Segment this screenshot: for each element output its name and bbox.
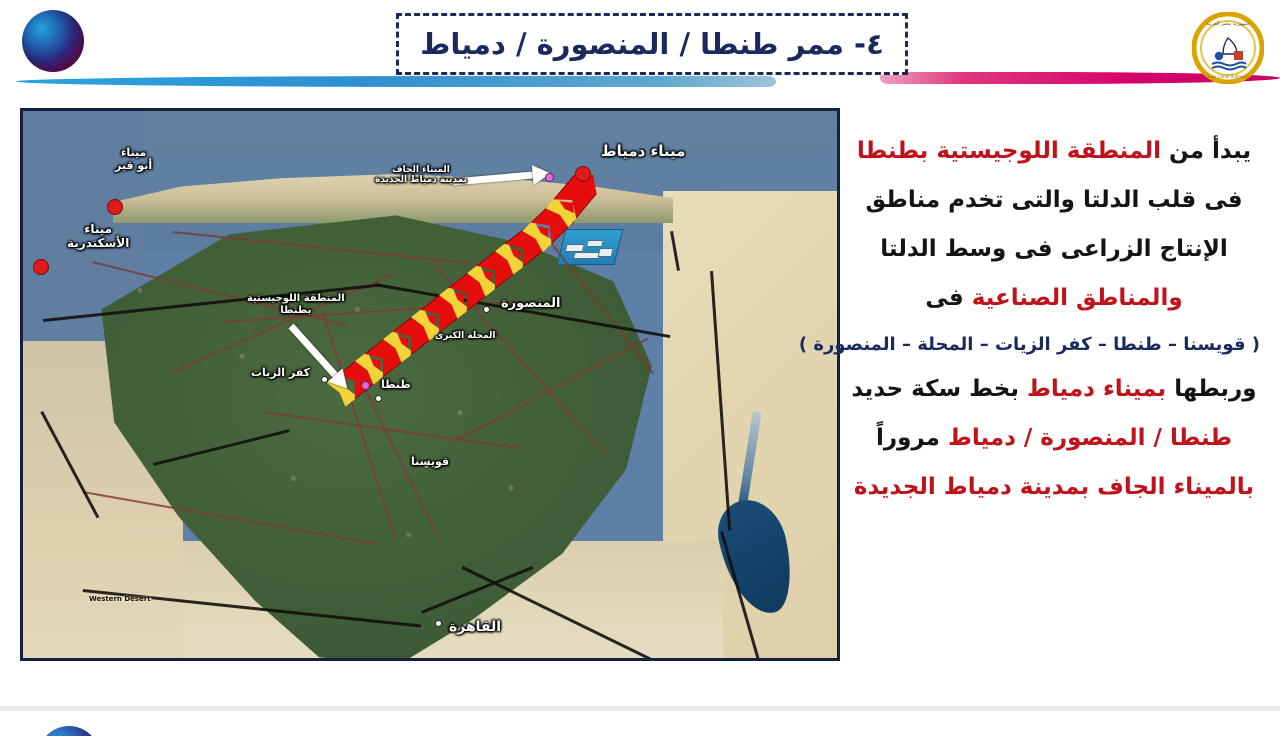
damietta-port-photo: [557, 229, 624, 265]
map-label-abu-qir-port: ميناء أبو قير: [115, 147, 152, 172]
map-label-mansoura: المنصورة: [501, 297, 560, 312]
desc-line-7: طنطا / المنصورة / دمياط مروراً: [848, 427, 1260, 450]
desc-line-4: والمناطق الصناعية فى: [848, 287, 1260, 310]
desc-line-2: فى قلب الدلتا والتى تخدم مناطق: [848, 189, 1260, 212]
map-label-western-desert: Western Desert: [89, 595, 151, 603]
map-label-damietta-port: ميناء دمياط: [601, 143, 685, 160]
cairo-node[interactable]: [435, 620, 442, 627]
desc-line-1: يبدأ من المنطقة اللوجيستية بطنطا: [848, 140, 1260, 163]
map-label-alexandria-port: ميناء الأسكندرية: [67, 223, 129, 251]
desc-line-3: الإنتاج الزراعى فى وسط الدلتا: [848, 238, 1260, 261]
map-label-kafr-el-zayat: كفر الزيات: [251, 367, 310, 380]
map-label-quesna: قويسنا: [411, 456, 449, 469]
alexandria-port-marker[interactable]: [33, 259, 49, 275]
tanta-node[interactable]: [361, 381, 370, 390]
map-label-mahalla: المحلة الكبرى: [435, 331, 495, 341]
desc-line-5-cities: ( قويسنا – طنطا – كفر الزيات – المحلة – …: [848, 336, 1260, 354]
desc-line-4-part-2: فى: [925, 285, 971, 311]
abu-qir-port-marker[interactable]: [107, 199, 123, 215]
damietta-port-marker[interactable]: [575, 166, 591, 182]
tanta-city-node[interactable]: [375, 395, 382, 402]
seal-bottom-text: Suez Canal Authority: [1207, 74, 1250, 79]
slide-root: ٤- ممر طنطا / المنصورة / دمياط جمهورية م…: [0, 0, 1280, 736]
desc-line-8: بالميناء الجاف بمدينة دمياط الجديدة: [848, 476, 1260, 499]
desc-line-1-part-1: يبدأ من: [1161, 138, 1251, 164]
desc-line-6-part-1: وربطها: [1166, 376, 1256, 402]
desc-line-7-part-2: مروراً: [876, 425, 948, 451]
map-label-tanta-logistics: المنطقة اللوجيستية بطنطا: [247, 293, 345, 316]
description-column: يبدأ من المنطقة اللوجيستية بطنطا فى قلب …: [848, 140, 1260, 525]
map-label-tanta: طنطا: [381, 379, 411, 392]
ministry-seal-icon: جمهورية مصر العربية Suez Canal Authority: [1192, 12, 1264, 84]
desc-line-6-part-2: بميناء دمياط: [1027, 376, 1166, 402]
seal-top-text: جمهورية مصر العربية: [1206, 21, 1250, 27]
desc-line-1-part-2: المنطقة اللوجيستية بطنطا: [857, 138, 1161, 164]
slide-title-box: ٤- ممر طنطا / المنصورة / دمياط: [396, 13, 908, 75]
footer-divider: [0, 706, 1280, 711]
footer-orb-icon: [38, 726, 100, 736]
header-blue-bar: [16, 76, 776, 87]
brand-orb-icon: [22, 10, 84, 72]
kafr-el-zayat-node[interactable]: [321, 376, 328, 383]
map-label-dry-port: الميناء الجاف بمدينة دمياط الجديدة: [375, 165, 467, 186]
page-title: ٤- ممر طنطا / المنصورة / دمياط: [420, 27, 884, 61]
desc-line-6: وربطها بميناء دمياط بخط سكة حديد: [848, 378, 1260, 401]
map-label-cairo: القاهرة: [449, 619, 501, 635]
desc-line-6-part-3: بخط سكة حديد: [851, 376, 1027, 402]
dry-port-node[interactable]: [545, 173, 554, 182]
map-canvas: ميناء أبو قير ميناء الأسكندرية ميناء دمي…: [23, 111, 837, 658]
mansoura-node[interactable]: [483, 306, 490, 313]
desc-line-4-part-1: والمناطق الصناعية: [972, 285, 1183, 311]
corridor-map[interactable]: ميناء أبو قير ميناء الأسكندرية ميناء دمي…: [20, 108, 840, 661]
desc-line-7-part-1: طنطا / المنصورة / دمياط: [948, 425, 1232, 451]
